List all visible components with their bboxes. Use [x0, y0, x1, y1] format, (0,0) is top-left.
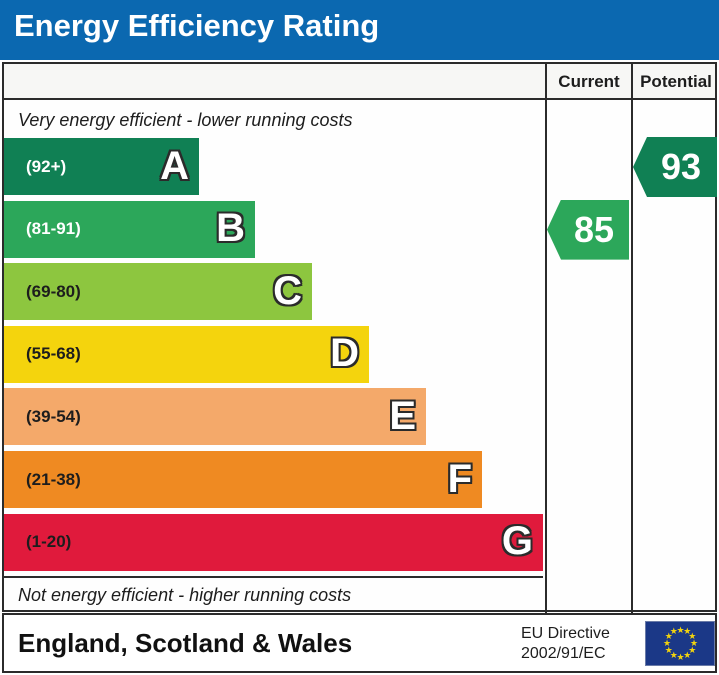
band-range-e: (39-54)	[26, 407, 81, 427]
current-rating-value: 85	[562, 212, 614, 248]
band-list: (92+)A(81-91)B(69-80)C(55-68)D(39-54)E(2…	[4, 138, 543, 576]
eu-star-icon: ★	[670, 628, 677, 635]
band-letter-g: G	[502, 521, 533, 561]
page-title: Energy Efficiency Rating	[14, 8, 379, 44]
band-g: (1-20)G	[4, 514, 543, 571]
eu-star-icon: ★	[663, 640, 670, 647]
eu-flag-icon: ★★★★★★★★★★★★	[645, 621, 715, 666]
energy-efficiency-rating-chart: Energy Efficiency Rating Current Potenti…	[0, 0, 719, 675]
footer-directive-label: EU Directive 2002/91/EC	[521, 624, 641, 664]
band-range-a: (92+)	[26, 157, 66, 177]
band-letter-d: D	[330, 333, 359, 373]
column-divider-current	[545, 100, 547, 614]
chart-footer: England, Scotland & Wales EU Directive 2…	[2, 613, 717, 673]
band-a: (92+)A	[4, 138, 199, 195]
footer-region-label: England, Scotland & Wales	[18, 628, 352, 659]
column-header-current: Current	[545, 64, 631, 100]
band-letter-a: A	[160, 146, 189, 186]
potential-rating-badge: 93	[633, 137, 717, 197]
caption-efficient: Very energy efficient - lower running co…	[18, 110, 518, 131]
caption-inefficient: Not energy efficient - higher running co…	[18, 585, 518, 606]
band-range-d: (55-68)	[26, 344, 81, 364]
band-letter-b: B	[216, 208, 245, 248]
chart-title-bar: Energy Efficiency Rating	[0, 0, 719, 60]
band-range-f: (21-38)	[26, 470, 81, 490]
band-letter-e: E	[389, 396, 416, 436]
current-rating-badge: 85	[547, 200, 629, 260]
table-header-row: Current Potential	[4, 64, 715, 100]
chart-frame: Current Potential Very energy efficient …	[2, 62, 717, 612]
band-letter-c: C	[273, 271, 302, 311]
potential-rating-value: 93	[649, 149, 701, 185]
band-b: (81-91)B	[4, 201, 255, 258]
footer-directive-line1: EU Directive	[521, 624, 641, 644]
column-header-potential: Potential	[631, 64, 719, 100]
band-d: (55-68)D	[4, 326, 369, 383]
band-range-g: (1-20)	[26, 532, 71, 552]
band-range-b: (81-91)	[26, 219, 81, 239]
bands-bottom-divider	[4, 576, 543, 578]
footer-directive-line2: 2002/91/EC	[521, 644, 641, 664]
band-letter-f: F	[448, 459, 472, 499]
band-e: (39-54)E	[4, 388, 426, 445]
column-divider-potential	[631, 100, 633, 614]
band-f: (21-38)F	[4, 451, 482, 508]
band-range-c: (69-80)	[26, 282, 81, 302]
band-c: (69-80)C	[4, 263, 312, 320]
